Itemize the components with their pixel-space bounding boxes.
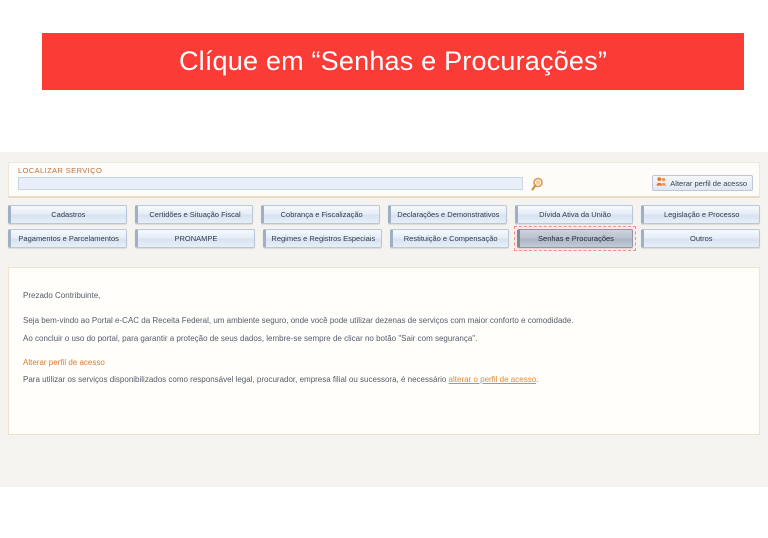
magnifier-icon[interactable] xyxy=(531,176,547,192)
menu-button-senhas-procuracoes[interactable]: Senhas e Procurações xyxy=(517,229,632,248)
menu-button-pagamentos-parcelamentos[interactable]: Pagamentos e Parcelamentos xyxy=(8,229,127,248)
menu-button-regimes-registros-especiais[interactable]: Regimes e Registros Especiais xyxy=(263,229,382,248)
service-menu-row-1: Cadastros Certidões e Situação Fiscal Co… xyxy=(8,205,760,224)
welcome-text: Seja bem-vindo ao Portal e-CAC da Receit… xyxy=(23,315,745,327)
search-input[interactable] xyxy=(18,177,523,190)
page-footer-strip xyxy=(0,439,768,487)
change-access-profile-link[interactable]: alterar o perfil de acesso xyxy=(449,375,537,384)
menu-button-cadastros[interactable]: Cadastros xyxy=(8,205,127,224)
search-panel: LOCALIZAR SERVIÇO Alterar perfil de aces… xyxy=(8,162,760,198)
menu-button-outros[interactable]: Outros xyxy=(641,229,760,248)
menu-button-pronampe[interactable]: PRONAMPE xyxy=(135,229,254,248)
service-menu-row-2: Pagamentos e Parcelamentos PRONAMPE Regi… xyxy=(8,229,760,248)
service-menu-grid: Cadastros Certidões e Situação Fiscal Co… xyxy=(8,205,760,253)
search-label: LOCALIZAR SERVIÇO xyxy=(18,166,102,175)
section-text-before: Para utilizar os serviços disponibilizad… xyxy=(23,375,449,384)
banner-title: Clíque em “Senhas e Procurações” xyxy=(179,46,607,77)
security-text: Ao concluir o uso do portal, para garant… xyxy=(23,333,745,345)
highlight-callout-senhas-procuracoes: Senhas e Procurações xyxy=(514,226,635,251)
ecac-portal-screenshot: LOCALIZAR SERVIÇO Alterar perfil de aces… xyxy=(0,152,768,487)
change-access-profile-label: Alterar perfil de acesso xyxy=(670,179,747,188)
menu-button-restituicao-compensacao[interactable]: Restituição e Compensação xyxy=(390,229,509,248)
welcome-content-panel: Prezado Contribuinte, Seja bem-vindo ao … xyxy=(8,267,760,435)
menu-button-divida-ativa-uniao[interactable]: Dívida Ativa da União xyxy=(515,205,634,224)
section-body-text: Para utilizar os serviços disponibilizad… xyxy=(23,374,745,386)
users-icon xyxy=(656,174,667,192)
section-text-after: . xyxy=(536,375,538,384)
menu-button-cobranca-fiscalizacao[interactable]: Cobrança e Fiscalização xyxy=(261,205,380,224)
menu-button-certidoes-situacao-fiscal[interactable]: Certidões e Situação Fiscal xyxy=(135,205,254,224)
greeting-text: Prezado Contribuinte, xyxy=(23,290,745,302)
menu-button-declaracoes-demonstrativos[interactable]: Declarações e Demonstrativos xyxy=(388,205,507,224)
section-heading-alterar-perfil: Alterar perfil de acesso xyxy=(23,358,745,367)
change-access-profile-button[interactable]: Alterar perfil de acesso xyxy=(652,175,753,191)
slide-banner: Clíque em “Senhas e Procurações” xyxy=(42,33,744,90)
menu-button-legislacao-processo[interactable]: Legislação e Processo xyxy=(641,205,760,224)
